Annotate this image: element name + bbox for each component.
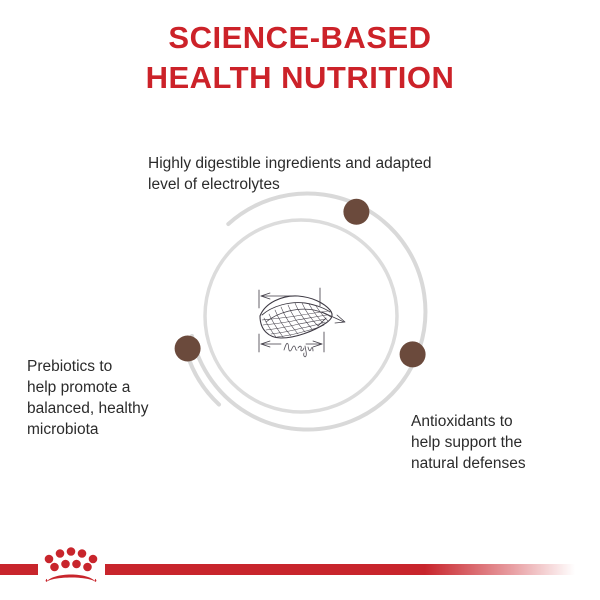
orbit-dot-top	[343, 199, 369, 225]
title-line-2: HEALTH NUTRITION	[0, 58, 600, 98]
orbit-dot-lower-left	[175, 336, 201, 362]
page-title: SCIENCE-BASED HEALTH NUTRITION	[0, 18, 600, 98]
poster-canvas: SCIENCE-BASED HEALTH NUTRITION Highly di…	[0, 0, 600, 600]
benefit-text-antioxidants: Antioxidants to help support the natural…	[411, 411, 596, 474]
orbit-dot-right	[400, 341, 426, 367]
title-line-1: SCIENCE-BASED	[0, 18, 600, 58]
kibble-sketch-illustration	[248, 282, 356, 364]
sketch-handwritten-label	[284, 343, 313, 357]
footer-bar-left-segment	[0, 564, 38, 575]
royal-canin-crown-logo	[40, 545, 102, 590]
footer-bar-right-segment	[105, 564, 575, 575]
